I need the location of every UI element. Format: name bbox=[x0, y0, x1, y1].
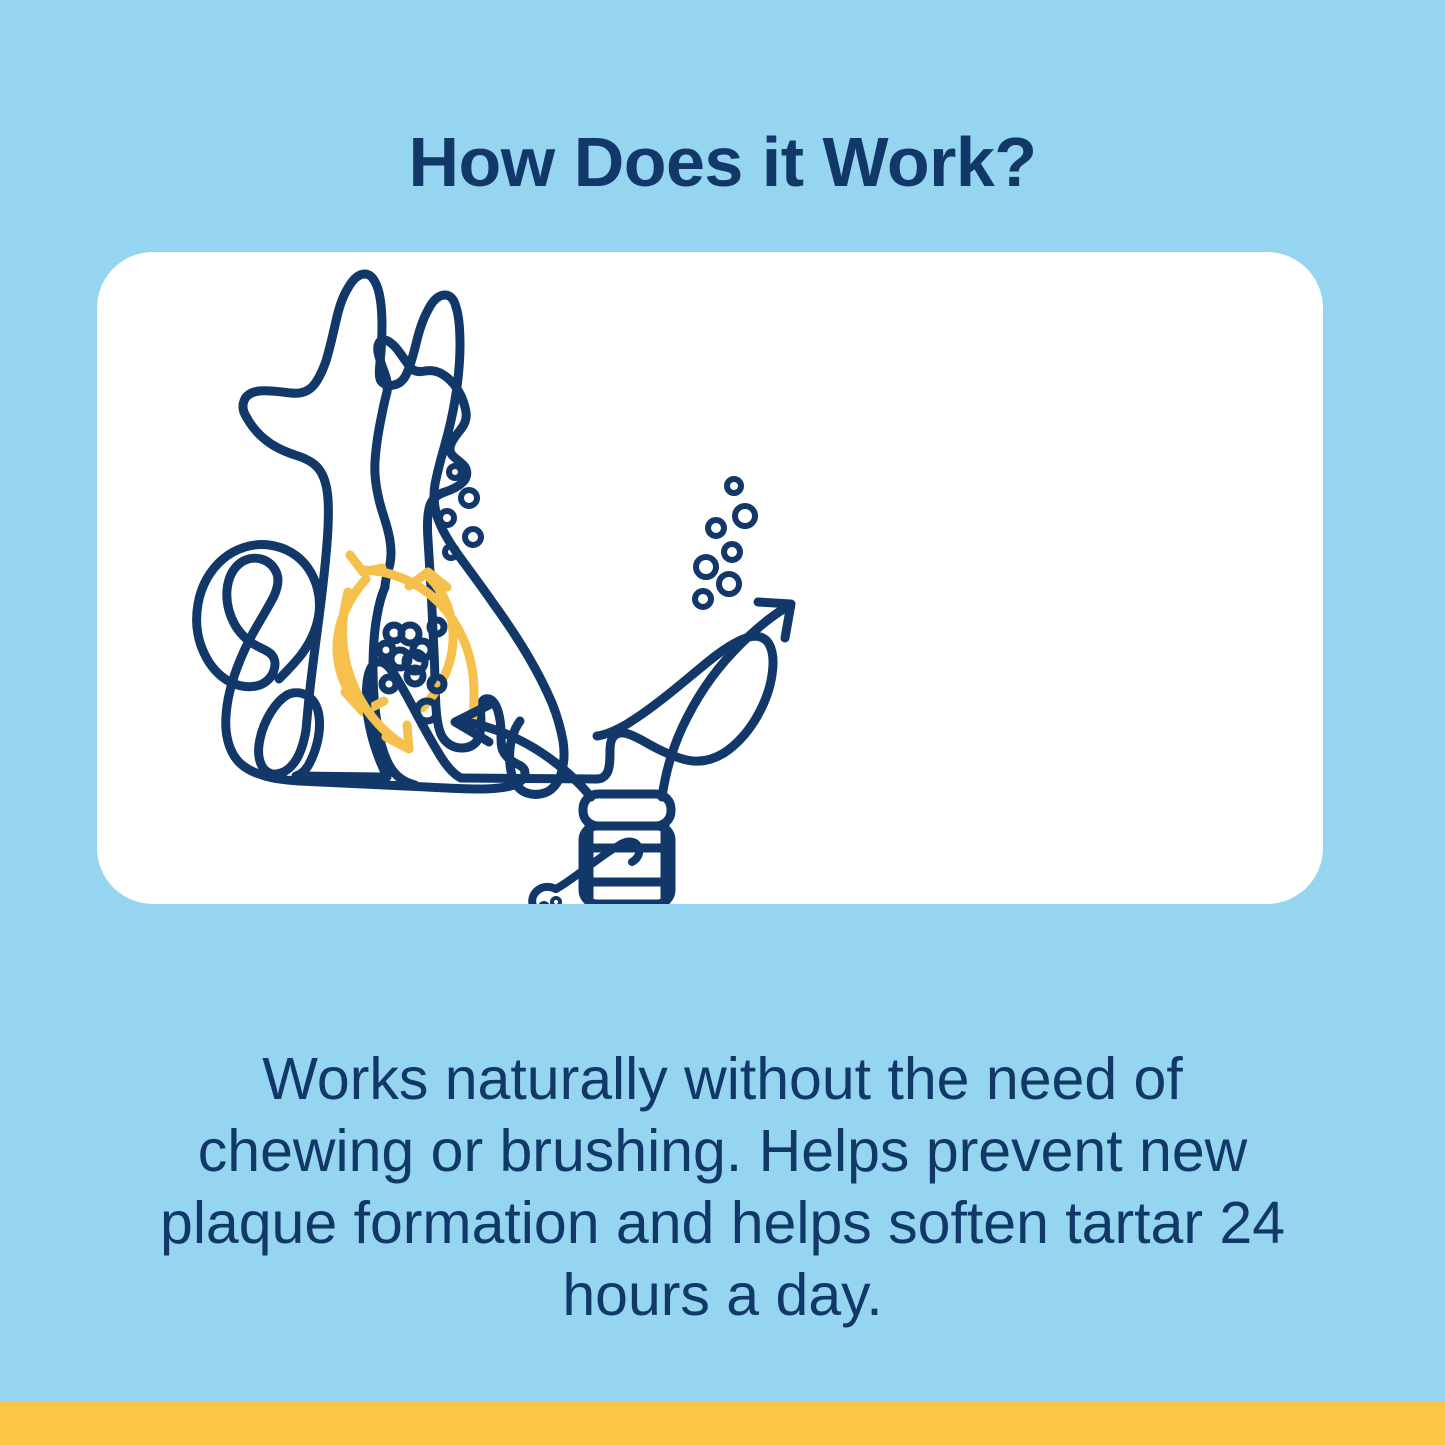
supplement-jar bbox=[583, 794, 671, 904]
illustration-svg bbox=[97, 252, 1323, 904]
page-title: How Does it Work? bbox=[0, 127, 1445, 197]
arrow-to-dog bbox=[662, 602, 791, 797]
dog-silhouette bbox=[243, 274, 773, 794]
infographic-page: How Does it Work? bbox=[0, 0, 1445, 1445]
scoop-powder bbox=[537, 898, 560, 904]
illustration-card bbox=[97, 252, 1323, 904]
particles-stream-dog bbox=[695, 479, 755, 607]
footer-accent-band bbox=[0, 1402, 1445, 1445]
description-text: Works naturally without the need of chew… bbox=[160, 1044, 1285, 1332]
